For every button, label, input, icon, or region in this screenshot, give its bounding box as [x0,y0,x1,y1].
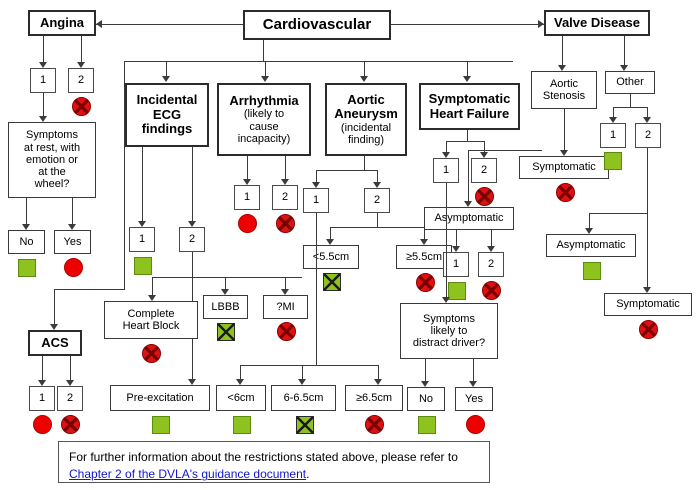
shf-line-2: Heart Failure [430,107,509,122]
node-other-2[interactable]: 2 [635,123,661,148]
shf-line-1: Symptomatic [429,92,511,107]
node-yes-angina[interactable]: Yes [54,230,91,254]
edge-main-bus [124,61,513,62]
edge-acs-to-1 [42,356,43,382]
marker-red-circle-cross-complete-heart-block [142,344,161,363]
symptoms-rest-line-5: wheel? [35,178,70,190]
complete-heart-block-line-1: Complete [127,308,174,320]
edge-stenosis-to-asym-v [468,150,469,203]
node-acs-1[interactable]: 1 [29,386,55,411]
marker-green-square-cross-lbbb [217,323,235,341]
marker-green-square-ecg-1 [134,257,152,275]
edge-distract-to-yes [473,359,474,383]
edge-acs-to-2 [70,356,71,382]
footer-line-2-prefix: please refer to [381,450,458,464]
node-ecg-1[interactable]: 1 [129,227,155,252]
edge-other2-to-asym-h [589,213,648,214]
arrow-left-angina [96,20,102,28]
node-6-6-5cm[interactable]: 6-6.5cm [271,385,336,411]
node-asym-hf-2[interactable]: 2 [478,252,504,277]
node-symptoms-distract-driver[interactable]: Symptoms likely to distract driver? [400,303,498,359]
edge-shf-bus [446,141,484,142]
node-angina[interactable]: Angina [28,10,96,36]
arrhythmia-line-3: cause [249,121,278,133]
node-other-valve[interactable]: Other [605,71,655,94]
node-symptomatic-heart-failure[interactable]: Symptomatic Heart Failure [419,83,520,130]
marker-green-square-cross-mid6 [296,416,314,434]
node-acs[interactable]: ACS [28,330,82,356]
node-other-1[interactable]: 1 [600,123,626,148]
marker-red-circle-cross-shf-2 [475,187,494,206]
aortic-aneurysm-line-1: Aortic [347,93,385,108]
symptoms-rest-line-4: at the [38,166,66,178]
dvla-guidance-link[interactable]: Chapter 2 of the DVLA's guidance documen… [69,467,306,481]
edge-ecg2-bus [152,277,302,278]
marker-green-square-asym-hf-1 [448,282,466,300]
aortic-stenosis-line-2: Stenosis [543,90,585,102]
marker-red-circle-arrhythmia-1 [238,214,257,233]
node-valve-disease[interactable]: Valve Disease [544,10,650,36]
marker-green-square-asymptomatic-other [583,262,601,280]
symptoms-rest-line-2: at rest, with [24,142,80,154]
edge-cardiovascular-to-angina [96,24,243,25]
node-pre-excitation[interactable]: Pre-excitation [110,385,210,411]
node-qmi[interactable]: ?MI [263,295,308,319]
edge-size-bus-right [316,365,378,366]
edge-cardiovascular-to-valve [391,24,544,25]
marker-red-circle-cross-ge65 [365,415,384,434]
edge-valve-to-other [624,36,625,67]
node-symptomatic-aortic-stenosis[interactable]: Symptomatic [519,156,609,179]
edge-angina1-to-symptoms [43,93,44,118]
edge-stenosis-to-asym-h [468,150,542,151]
edge-angina-to-1 [43,36,44,64]
edge-to-acs-vertical [54,289,55,326]
node-lt-5-5cm[interactable]: <5.5cm [303,245,359,269]
aortic-aneurysm-line-4: finding) [348,134,384,146]
node-arrhythmia-2[interactable]: 2 [272,185,298,210]
marker-red-circle-cross-symptomatic-as [556,183,575,202]
node-cardiovascular[interactable]: Cardiovascular [243,10,391,40]
marker-green-square-lt6 [233,416,251,434]
marker-red-circle-cross-angina-2 [72,97,91,116]
marker-red-circle-cross-arrhythmia-2 [276,214,295,233]
edge-aa2-stem [377,213,378,228]
node-ge-6-5cm[interactable]: ≥6.5cm [345,385,403,411]
edge-arr-to-1 [247,156,248,181]
edge-ecg-to-1 [142,147,143,223]
node-ecg-2[interactable]: 2 [179,227,205,252]
marker-green-square-pre-excitation [152,416,170,434]
marker-green-square-no-angina [18,259,36,277]
marker-red-circle-cross-ge55 [416,273,435,292]
footer-line-1: For further information about the restri… [69,450,378,464]
incidental-ecg-line-2: ECG [153,108,181,123]
node-lbbb[interactable]: LBBB [203,295,248,319]
symptoms-rest-line-3: emotion or [26,154,78,166]
marker-red-circle-yes-distract [466,415,485,434]
distract-line-2: likely to [431,325,468,337]
edge-ecg-to-2 [192,147,193,223]
node-shf-2[interactable]: 2 [471,158,497,183]
aortic-stenosis-line-1: Aortic [550,78,578,90]
edge-distract-to-no [425,359,426,383]
arrow-down-arrhythmia [261,76,269,82]
distract-line-1: Symptoms [423,313,475,325]
symptoms-rest-line-1: Symptoms [26,129,78,141]
marker-green-square-no-distract [418,416,436,434]
node-symptoms-at-rest[interactable]: Symptoms at rest, with emotion or at the… [8,122,96,198]
edge-aneurysm-bus [316,170,377,171]
incidental-ecg-line-1: Incidental [137,93,198,108]
marker-red-circle-cross-asym-hf-2 [482,281,501,300]
arrow-down-shf [463,76,471,82]
node-arrhythmia-1[interactable]: 1 [234,185,260,210]
node-complete-heart-block[interactable]: Complete Heart Block [104,301,198,339]
distract-line-3: distract driver? [413,337,485,349]
edge-other-bus [613,107,647,108]
edge-aneurysm-stem [364,156,365,171]
edge-stenosis-to-symptomatic [564,109,565,152]
edge-valve-to-stenosis [562,36,563,67]
marker-green-square-cross-lt55 [323,273,341,291]
node-symptomatic-other[interactable]: Symptomatic [604,293,692,316]
complete-heart-block-line-2: Heart Block [123,320,180,332]
node-asymptomatic-heart-failure[interactable]: Asymptomatic [424,207,514,230]
node-shf-1[interactable]: 1 [433,158,459,183]
edge-cardiovascular-stem [263,40,264,61]
flowchart-canvas: Cardiovascular Angina 1 2 Symptoms at re… [0,0,697,490]
edge-other2-drop [647,148,648,288]
node-asymptomatic-other[interactable]: Asymptomatic [546,234,636,257]
edge-symptoms-to-no [26,198,27,226]
node-aneurysm-1[interactable]: 1 [303,188,329,213]
edge-to-acs-horizontal [54,289,125,290]
aortic-aneurysm-line-3: (incidental [341,122,391,134]
marker-green-square-other-1 [604,152,622,170]
node-arrhythmia[interactable]: Arrhythmia (likely to cause incapacity) [217,83,311,156]
node-angina-1[interactable]: 1 [30,68,56,93]
edge-angina-to-2 [81,36,82,64]
node-no-angina[interactable]: No [8,230,45,254]
aortic-aneurysm-line-2: Aneurysm [334,107,398,122]
node-aortic-aneurysm[interactable]: Aortic Aneurysm (incidental finding) [325,83,407,156]
edge-size-bus [240,365,317,366]
edge-symptoms-to-yes [72,198,73,226]
marker-red-circle-cross-symptomatic-other [639,320,658,339]
marker-red-circle-cross-qmi [277,322,296,341]
node-aneurysm-2[interactable]: 2 [364,188,390,213]
marker-red-circle-cross-acs-2 [61,415,80,434]
node-angina-2[interactable]: 2 [68,68,94,93]
marker-red-circle-acs-1 [33,415,52,434]
node-acs-2[interactable]: 2 [57,386,83,411]
marker-red-circle-yes-angina [64,258,83,277]
arrhythmia-line-4: incapacity) [238,133,291,145]
node-no-distract[interactable]: No [407,387,445,411]
edge-aa1-drop [316,213,317,366]
arrow-down-ecg [162,76,170,82]
node-yes-distract[interactable]: Yes [455,387,493,411]
edge-other-stem [630,94,631,108]
arrhythmia-line-2: (likely to [244,108,284,120]
footer-line-2-suffix: . [306,467,309,481]
edge-arr-to-2 [285,156,286,181]
incidental-ecg-line-3: findings [142,122,193,137]
node-incidental-ecg-findings[interactable]: Incidental ECG findings [125,83,209,147]
node-lt-6cm[interactable]: <6cm [216,385,266,411]
arrow-down-aneurysm [360,76,368,82]
edge-ecg2-to-chb [152,277,153,297]
footer-note: For further information about the restri… [58,441,490,483]
edge-shf1-drop [446,183,447,299]
node-aortic-stenosis[interactable]: Aortic Stenosis [531,71,597,109]
arrhythmia-line-1: Arrhythmia [229,94,298,109]
edge-aa2-bus [330,227,424,228]
